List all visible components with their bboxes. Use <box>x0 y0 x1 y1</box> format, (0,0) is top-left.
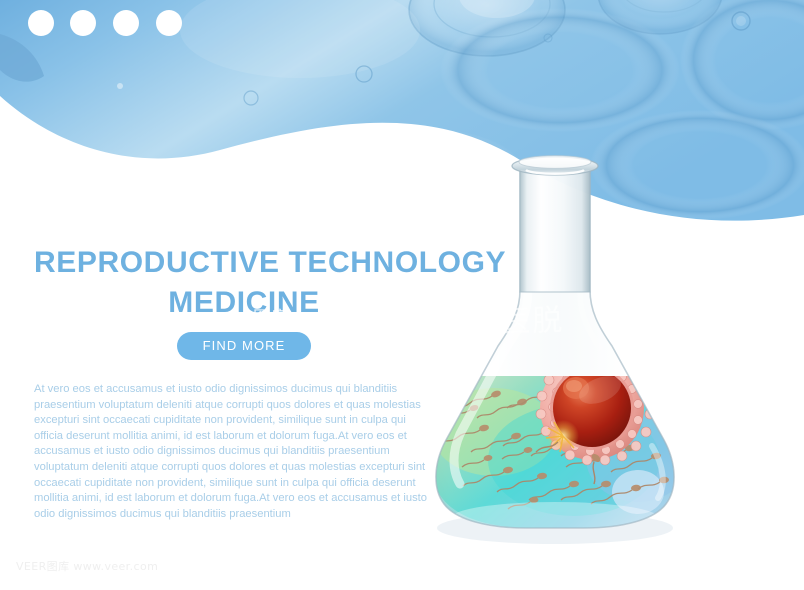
poster-canvas: 医脱 REPRODUCTIVE TECHNOLOGY MEDICINE FIND… <box>0 0 804 590</box>
body-paragraph: At vero eos et accusamus et iusto odio d… <box>34 382 434 522</box>
cta-wrapper: FIND MORE <box>34 332 454 360</box>
page-title-line-2: MEDICINE <box>34 288 454 318</box>
footer-watermark: VEER图库 www.veer.com <box>16 558 158 574</box>
erlenmeyer-flask-illustration <box>424 140 704 560</box>
header-dot-3 <box>113 10 139 36</box>
page-title-line-1: REPRODUCTIVE TECHNOLOGY <box>34 248 454 278</box>
header-dot-4 <box>156 10 182 36</box>
find-more-button[interactable]: FIND MORE <box>177 332 312 360</box>
hero-copy-block: REPRODUCTIVE TECHNOLOGY MEDICINE FIND MO… <box>34 248 454 522</box>
header-dot-1 <box>28 10 54 36</box>
header-dot-2 <box>70 10 96 36</box>
